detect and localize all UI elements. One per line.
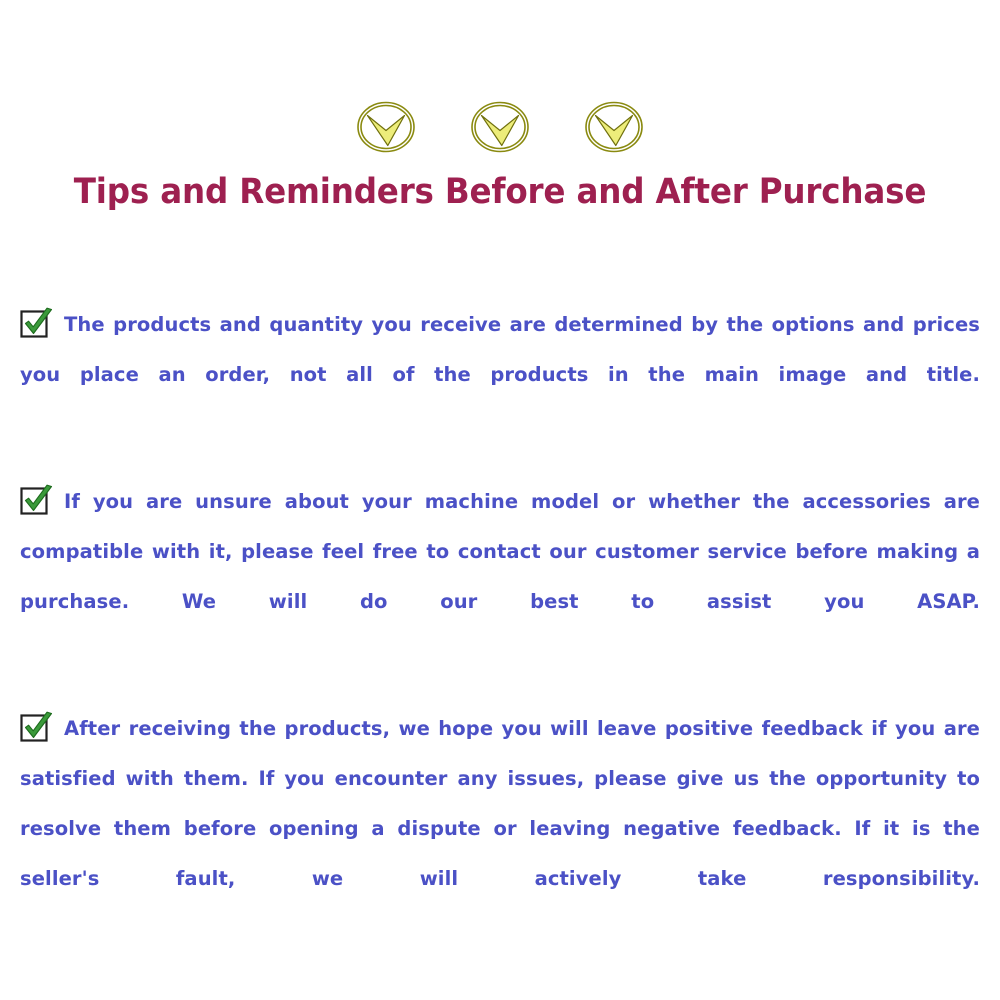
tip-text: After receiving the products, we hope yo… bbox=[20, 717, 980, 890]
tip-text: If you are unsure about your machine mod… bbox=[20, 490, 980, 613]
checkbox-checked-icon bbox=[20, 711, 54, 743]
chevron-down-icon-3 bbox=[584, 99, 644, 155]
tip-text: The products and quantity you receive ar… bbox=[20, 313, 980, 386]
list-item: If you are unsure about your machine mod… bbox=[20, 477, 980, 677]
checkbox-checked-icon bbox=[20, 484, 54, 516]
tips-list: The products and quantity you receive ar… bbox=[20, 300, 980, 954]
page-title: Tips and Reminders Before and After Purc… bbox=[35, 172, 965, 212]
ornament-row bbox=[0, 96, 1000, 158]
chevron-down-icon-1 bbox=[356, 99, 416, 155]
chevron-down-icon-2 bbox=[470, 99, 530, 155]
list-item: The products and quantity you receive ar… bbox=[20, 300, 980, 450]
tips-and-reminders-banner: Tips and Reminders Before and After Purc… bbox=[0, 0, 1000, 1000]
list-item: After receiving the products, we hope yo… bbox=[20, 704, 980, 954]
checkbox-checked-icon bbox=[20, 307, 54, 339]
